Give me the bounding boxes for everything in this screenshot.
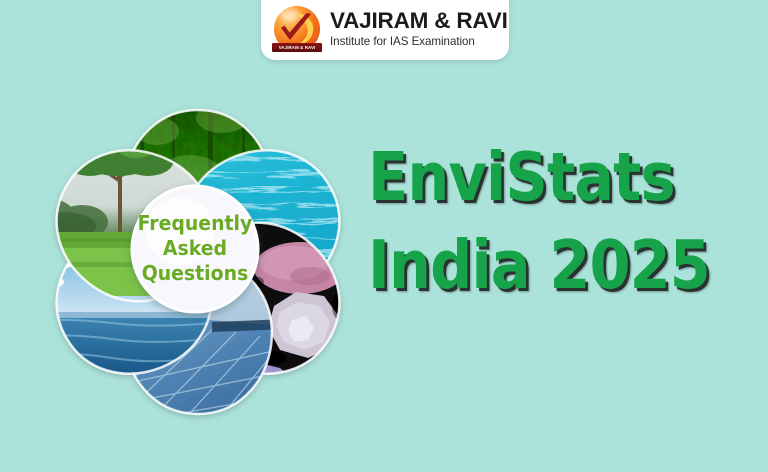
faq-line-3: Questions (142, 261, 249, 285)
logo-banner: VAJIRAM & RAVI (272, 43, 322, 52)
faq-line-1: Frequently (138, 211, 253, 235)
petal-diagram: Frequently Asked Questions (22, 76, 374, 432)
brand-tagline: Institute for IAS Examination (330, 36, 508, 48)
brand-name: VAJIRAM & RAVI (330, 10, 508, 33)
logo-checkmark-icon (279, 13, 313, 44)
poster-canvas: VAJIRAM & RAVI VAJIRAM & RAVI Institute … (0, 0, 768, 472)
vajiram-ravi-checkmark-logo-icon: VAJIRAM & RAVI (271, 4, 323, 54)
headline-line-2: India 2025 (368, 221, 720, 309)
page-title: EnviStats India 2025 (368, 133, 768, 309)
faq-line-2: Asked (163, 236, 227, 260)
headline-line-1: EnviStats (368, 133, 720, 221)
logo-banner-text: VAJIRAM & RAVI (279, 45, 316, 50)
brand-text-block: VAJIRAM & RAVI Institute for IAS Examina… (330, 10, 508, 47)
brand-logo-card[interactable]: VAJIRAM & RAVI VAJIRAM & RAVI Institute … (261, 0, 509, 60)
